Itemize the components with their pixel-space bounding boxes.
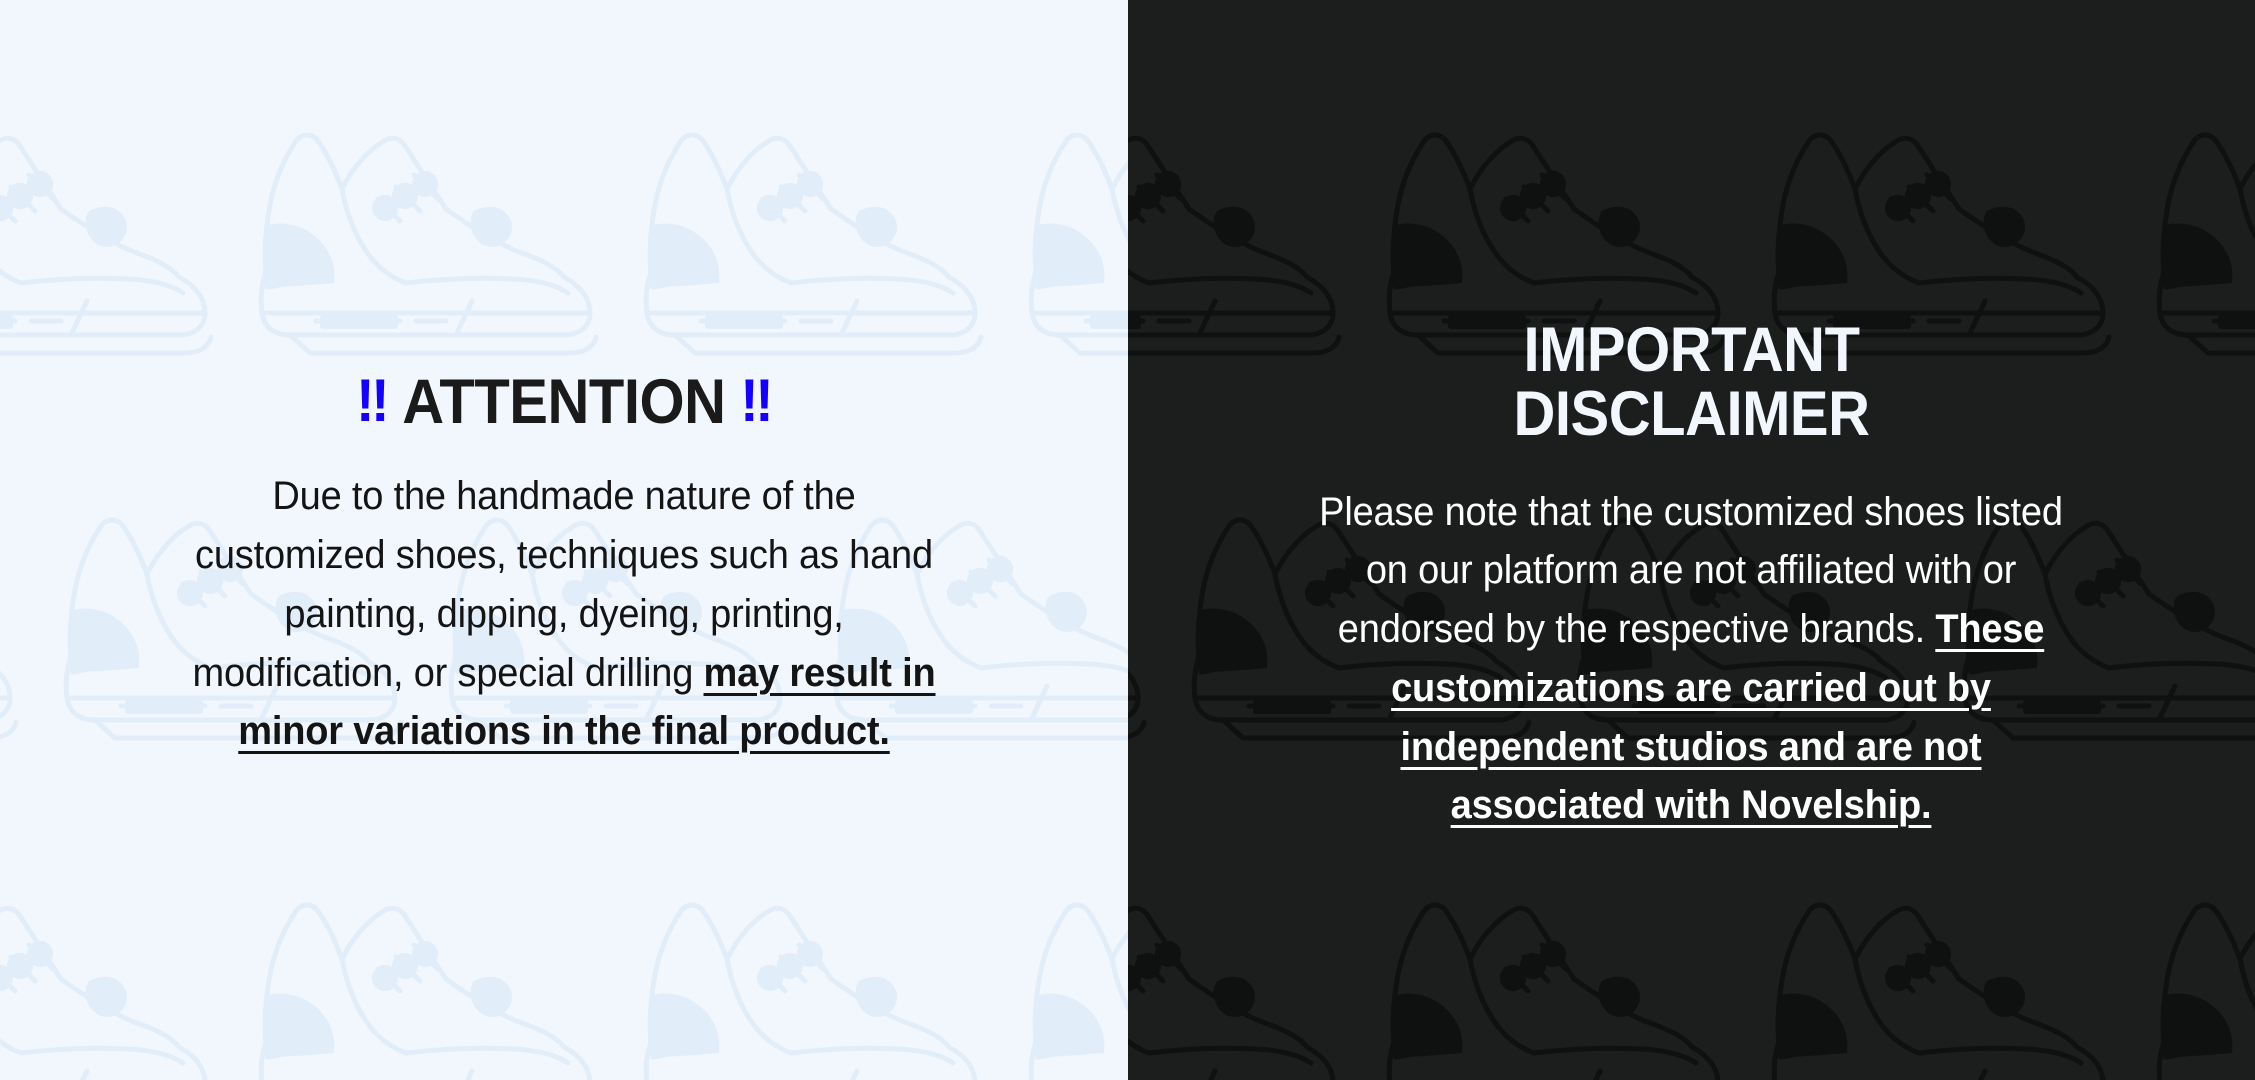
disclaimer-heading: IMPORTANTDISCLAIMER [1513,318,1869,447]
double-exclamation-icon-right: ‼ [740,370,772,431]
customization-notice-banner: ‼ATTENTION‼ Due to the handmade nature o… [0,0,2255,1080]
attention-body: Due to the handmade nature of the custom… [189,467,940,761]
disclaimer-content: IMPORTANTDISCLAIMER Please note that the… [1128,0,2255,835]
disclaimer-body: Please note that the customized shoes li… [1316,483,2067,836]
attention-heading-text: ATTENTION [402,367,725,437]
disclaimer-heading-line-2: DISCLAIMER [1513,379,1869,449]
attention-panel: ‼ATTENTION‼ Due to the handmade nature o… [0,0,1128,1080]
attention-content: ‼ATTENTION‼ Due to the handmade nature o… [0,0,1128,761]
double-exclamation-icon-left: ‼ [356,370,388,431]
disclaimer-panel: IMPORTANTDISCLAIMER Please note that the… [1128,0,2255,1080]
disclaimer-heading-line-1: IMPORTANT [1523,315,1859,385]
attention-heading: ‼ATTENTION‼ [356,370,772,434]
